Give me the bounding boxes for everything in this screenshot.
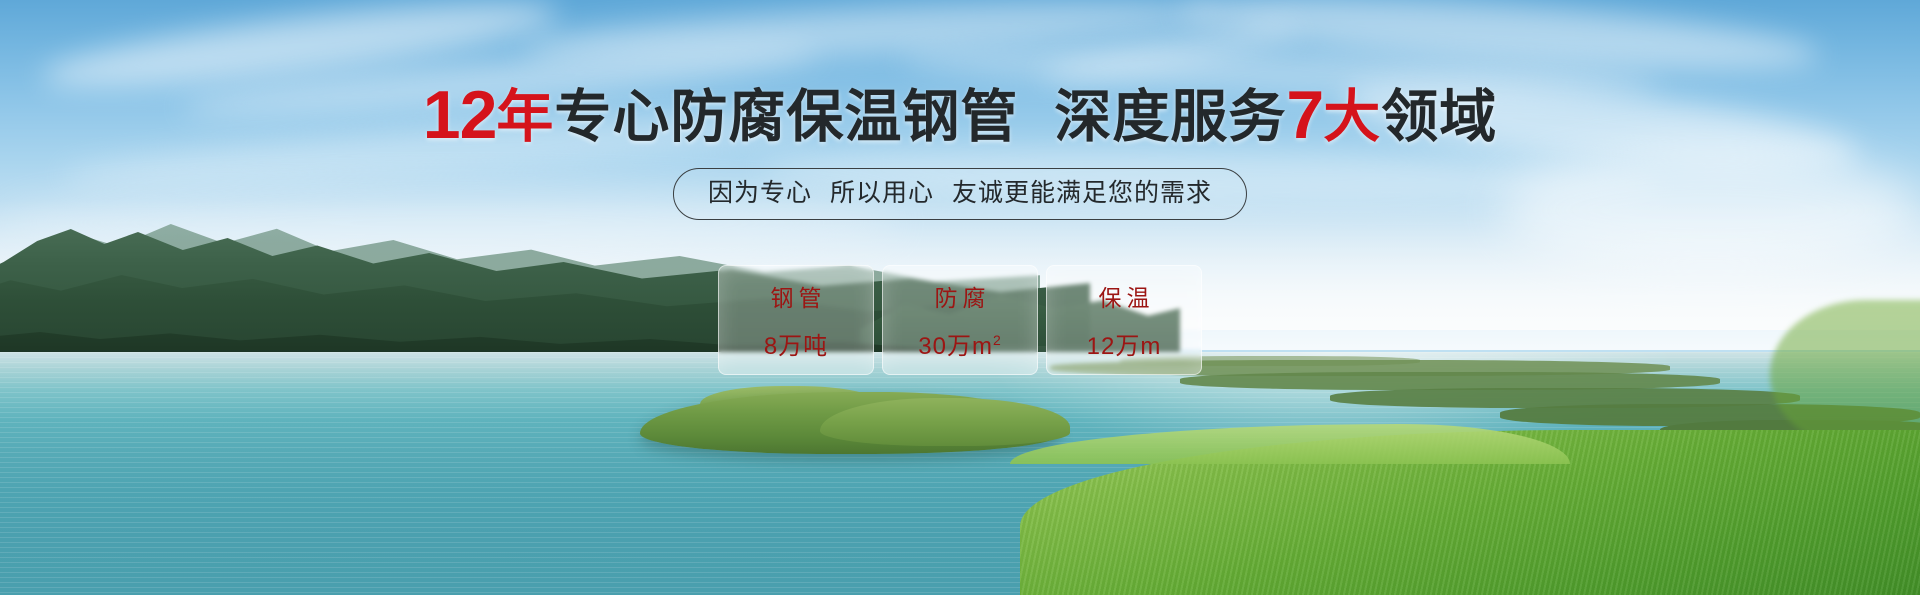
stat-card-value-base: 30万m [918, 333, 993, 360]
stat-card-anticorrosion: 防腐 30万m2 [882, 265, 1038, 375]
banner-subtitle-pill: 因为专心所以用心友诚更能满足您的需求 [673, 168, 1247, 220]
stat-card-insulation: 保温 12万m [1046, 265, 1202, 375]
stat-card-steel-pipe: 钢管 8万吨 [718, 265, 874, 375]
headline-main-text: 专心防腐保温钢管 [554, 85, 1018, 149]
headline-years-number: 12 [423, 77, 497, 153]
stat-card-value-superscript: 2 [993, 332, 1002, 348]
subtitle-part-2: 所以用心 [830, 179, 934, 207]
headline-service-text: 深度服务 [1054, 85, 1286, 149]
stat-card-value: 12万m [1087, 326, 1162, 361]
headline-years-unit: 年 [496, 85, 554, 149]
subtitle-part-3: 友诚更能满足您的需求 [952, 179, 1212, 207]
headline-fields-text: 领域 [1381, 85, 1497, 149]
headline-fields-number: 7 [1286, 77, 1323, 153]
stat-card-value: 8万吨 [764, 326, 828, 361]
headline-fields-unit: 大 [1323, 85, 1381, 149]
stat-card-label: 钢管 [766, 279, 827, 313]
banner-headline: 12年专心防腐保温钢管深度服务7大领域 [0, 84, 1920, 148]
subtitle-part-1: 因为专心 [708, 179, 812, 207]
hero-banner: 12年专心防腐保温钢管深度服务7大领域 因为专心所以用心友诚更能满足您的需求 钢… [0, 0, 1920, 595]
stat-card-label: 保温 [1094, 279, 1155, 313]
stat-card-label: 防腐 [930, 279, 991, 313]
stat-card-value: 30万m2 [918, 326, 1001, 361]
stat-card-group: 钢管 8万吨 防腐 30万m2 保温 12万m [718, 265, 1202, 375]
